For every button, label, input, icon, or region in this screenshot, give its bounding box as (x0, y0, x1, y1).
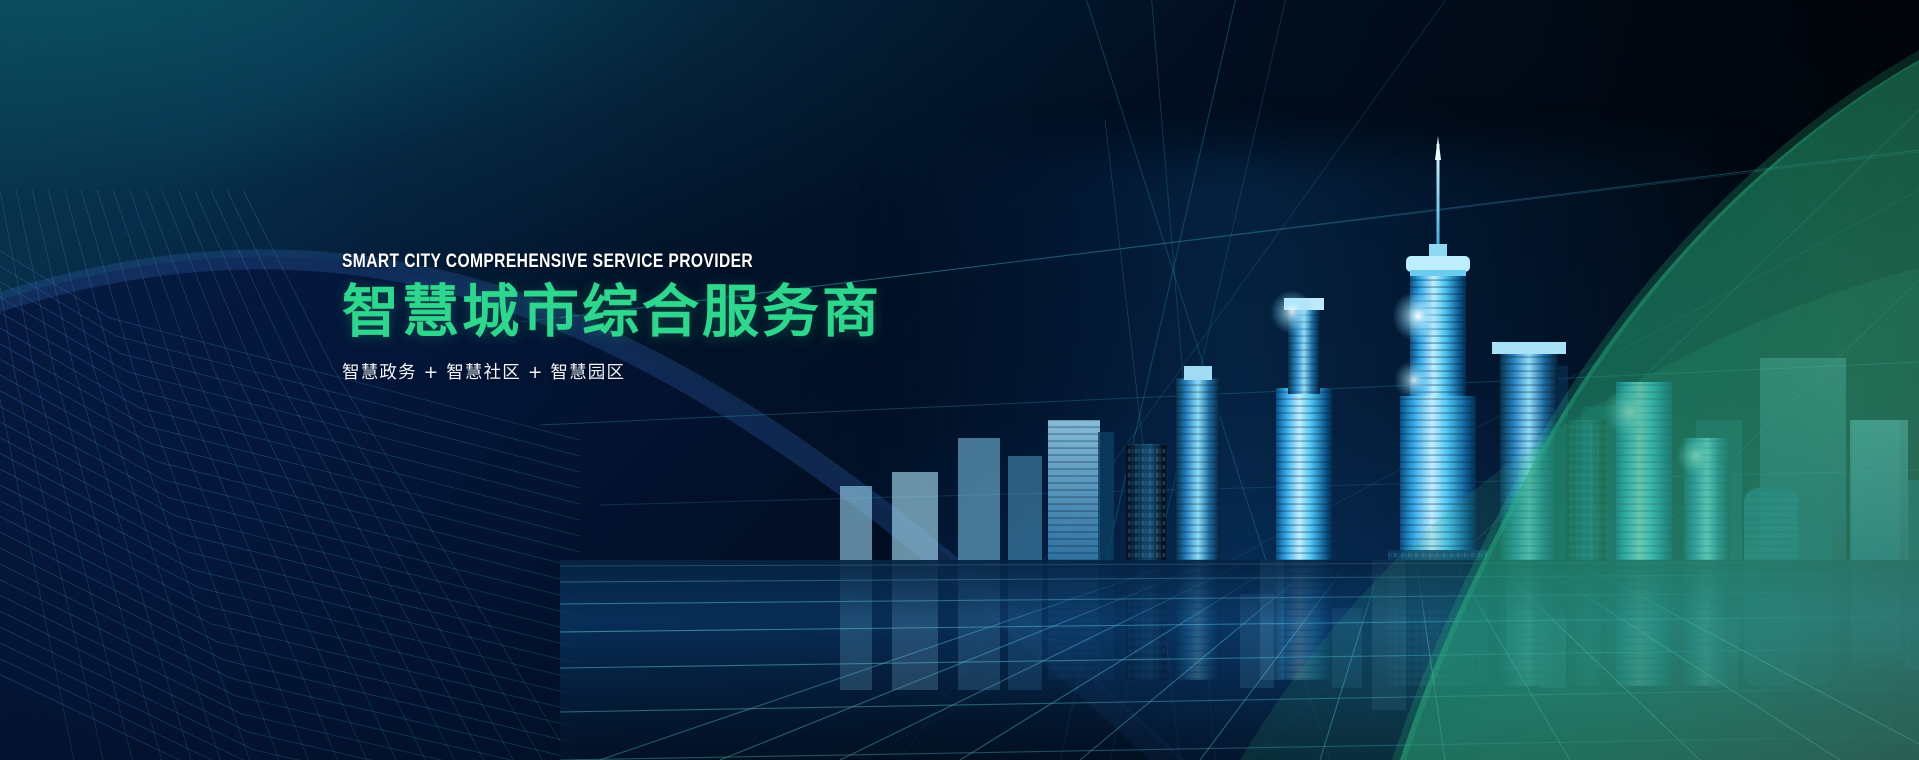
city-skyline (840, 120, 1919, 760)
smart-city-hero-banner: SMART CITY COMPREHENSIVE SERVICE PROVIDE… (0, 0, 1919, 760)
hero-text-block: SMART CITY COMPREHENSIVE SERVICE PROVIDE… (342, 250, 962, 384)
eyebrow-text: SMART CITY COMPREHENSIVE SERVICE PROVIDE… (342, 250, 838, 273)
subtitle-text: 智慧政务 + 智慧社区 + 智慧园区 (342, 359, 962, 384)
page-title: 智慧城市综合服务商 (342, 283, 962, 343)
